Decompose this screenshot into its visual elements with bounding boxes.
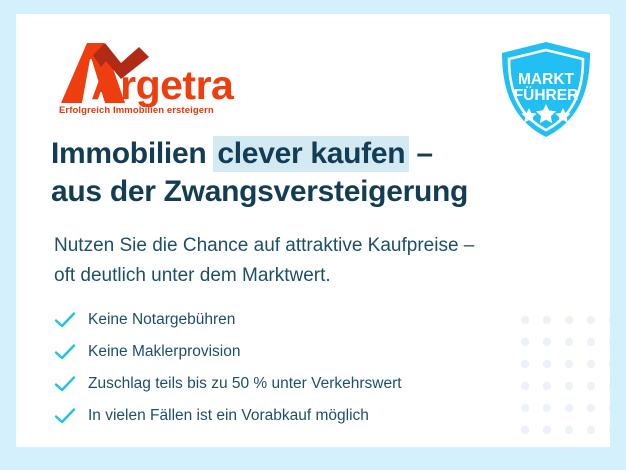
- check-icon: [54, 407, 76, 425]
- markt-fuehrer-badge: MARKT FÜHRER: [498, 40, 594, 140]
- benefit-label: Keine Maklerprovision: [88, 342, 241, 362]
- check-icon: [54, 311, 76, 329]
- check-icon: [54, 375, 76, 393]
- page-frame: Argetra Erfolgreich Immobilien ersteiger…: [0, 0, 626, 470]
- list-item: Zuschlag teils bis zu 50 % unter Verkehr…: [54, 368, 514, 400]
- logo-tagline: Erfolgreich Immobilien ersteigern: [59, 105, 214, 116]
- list-item: In vielen Fällen ist ein Vorabkauf mögli…: [54, 400, 514, 432]
- benefit-list: Keine Notargebühren Keine Maklerprovisio…: [54, 304, 514, 432]
- benefit-label: Zuschlag teils bis zu 50 % unter Verkehr…: [88, 374, 402, 394]
- promo-card: Argetra Erfolgreich Immobilien ersteiger…: [16, 14, 610, 447]
- list-item: Keine Maklerprovision: [54, 336, 514, 368]
- decorative-dot-grid: [520, 315, 610, 440]
- check-icon: [54, 343, 76, 361]
- page-subheadline: Nutzen Sie die Chance auf attraktive Kau…: [54, 231, 574, 291]
- subheadline-line-2: oft deutlich unter dem Marktwert.: [54, 261, 574, 291]
- subheadline-line-1: Nutzen Sie die Chance auf attraktive Kau…: [54, 231, 574, 261]
- svg-text:Argetra: Argetra: [91, 62, 235, 107]
- headline-line-2: aus der Zwangsversteigerung: [51, 175, 468, 208]
- svg-text:FÜHRER: FÜHRER: [514, 87, 579, 104]
- shield-badge-icon: MARKT FÜHRER: [498, 40, 594, 140]
- benefit-label: Keine Notargebühren: [88, 310, 235, 330]
- headline-part-2: –: [408, 137, 432, 170]
- headline-part-1: Immobilien: [51, 137, 214, 170]
- list-item: Keine Notargebühren: [54, 304, 514, 336]
- page-headline: Immobilien clever kaufen – aus der Zwang…: [51, 135, 571, 211]
- benefit-label: In vielen Fällen ist ein Vorabkauf mögli…: [88, 406, 369, 426]
- argetra-logo: Argetra Erfolgreich Immobilien ersteiger…: [57, 41, 247, 125]
- svg-text:MARKT: MARKT: [518, 71, 574, 88]
- headline-highlight: clever kaufen: [213, 136, 409, 172]
- argetra-wordmark-icon: Argetra: [57, 41, 247, 107]
